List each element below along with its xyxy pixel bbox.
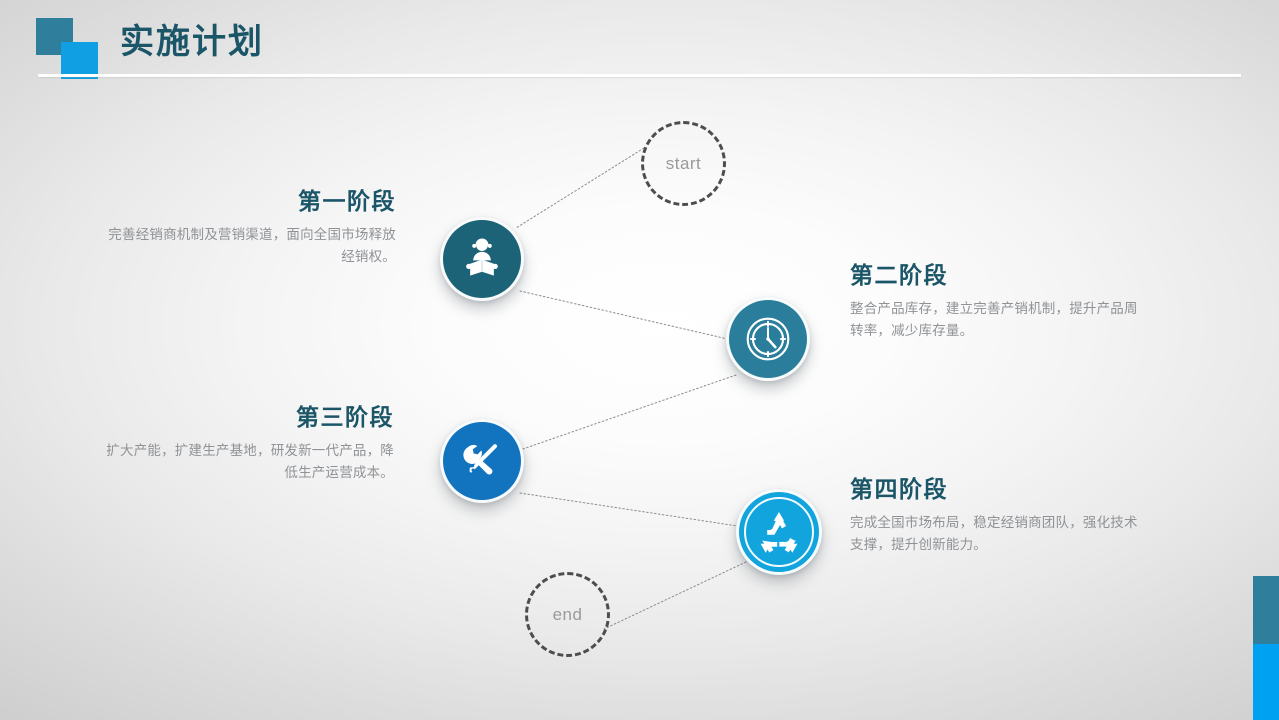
connector-node1-to-node2: [520, 291, 732, 340]
stage-title-3: 第三阶段: [98, 402, 394, 432]
corner-decoration-bottom: [1253, 644, 1279, 720]
connector-node2-to-node3: [520, 375, 736, 450]
stage-text-block-3: 第三阶段 扩大产能，扩建生产基地，研发新一代产品，降低生产运营成本。: [98, 402, 394, 484]
stage-body-4: 完成全国市场布局，稳定经销商团队，强化技术支撑，提升创新能力。: [850, 512, 1150, 556]
stage-node-4[interactable]: [736, 489, 822, 575]
person-reading-book-icon: [458, 235, 506, 283]
node-inner-ring: [744, 497, 814, 567]
header-divider: [38, 74, 1241, 77]
stage-text-block-4: 第四阶段 完成全国市场布局，稳定经销商团队，强化技术支撑，提升创新能力。: [850, 474, 1150, 556]
stage-text-block-2: 第二阶段 整合产品库存，建立完善产销机制，提升产品周转率，减少库存量。: [850, 260, 1150, 342]
wrench-screwdriver-icon: [458, 437, 506, 485]
stage-body-2: 整合产品库存，建立完善产销机制，提升产品周转率，减少库存量。: [850, 298, 1150, 342]
stage-node-1[interactable]: [440, 217, 524, 301]
stage-body-3: 扩大产能，扩建生产基地，研发新一代产品，降低生产运营成本。: [98, 440, 394, 484]
stage-body-1: 完善经销商机制及营销渠道，面向全国市场释放经销权。: [98, 224, 396, 268]
connector-node3-to-node4: [520, 493, 744, 527]
flow-end-node: end: [525, 572, 610, 657]
stage-title-1: 第一阶段: [98, 186, 396, 216]
stage-title-2: 第二阶段: [850, 260, 1150, 290]
stage-text-block-1: 第一阶段 完善经销商机制及营销渠道，面向全国市场释放经销权。: [98, 186, 396, 268]
stage-node-2[interactable]: [726, 297, 810, 381]
flow-end-label: end: [553, 605, 583, 625]
connector-start-to-node1: [516, 148, 644, 228]
stage-title-4: 第四阶段: [850, 474, 1150, 504]
flow-start-label: start: [666, 154, 702, 174]
connector-lines: [0, 0, 1279, 720]
slide-canvas: 实施计划 start end: [0, 0, 1279, 720]
stage-node-3[interactable]: [440, 419, 524, 503]
connector-node4-to-end: [604, 562, 746, 629]
clock-icon: [742, 313, 794, 365]
corner-decoration-top: [1253, 576, 1279, 644]
flow-start-node: start: [641, 121, 726, 206]
slide-header: 实施计划: [0, 0, 1279, 92]
page-title: 实施计划: [120, 20, 264, 64]
